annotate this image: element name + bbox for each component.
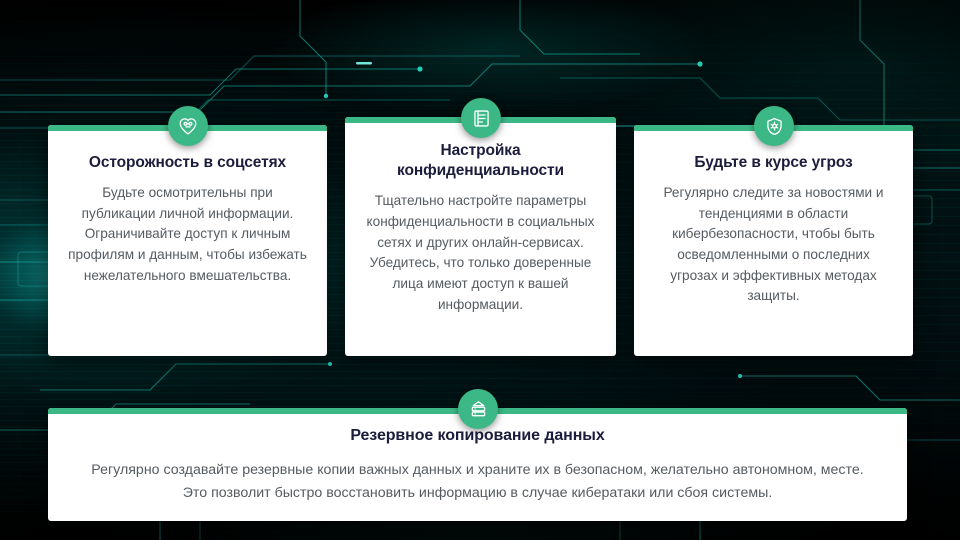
card-text: Регулярно создавайте резервные копии важ… xyxy=(84,459,871,505)
card-text: Тщательно настройте параметры конфиденци… xyxy=(363,191,598,315)
card-body: Будьте в курсе угроз Регулярно следите з… xyxy=(634,125,913,323)
slide-canvas: Осторожность в соцсетях Будьте осмотрите… xyxy=(0,0,960,540)
card-social-caution[interactable]: Осторожность в соцсетях Будьте осмотрите… xyxy=(48,125,327,356)
card-title: Резервное копирование данных xyxy=(84,426,871,447)
card-title: Настройка конфиденциальности xyxy=(363,141,598,181)
shield-icon xyxy=(754,106,794,146)
social-heart-icon xyxy=(168,106,208,146)
document-list-icon xyxy=(461,98,501,138)
card-threat-awareness[interactable]: Будьте в курсе угроз Регулярно следите з… xyxy=(634,125,913,356)
card-body: Осторожность в соцсетях Будьте осмотрите… xyxy=(48,125,327,302)
card-body: Настройка конфиденциальности Тщательно н… xyxy=(345,117,616,331)
card-privacy-settings[interactable]: Настройка конфиденциальности Тщательно н… xyxy=(345,117,616,356)
card-text: Будьте осмотрительны при публикации личн… xyxy=(66,183,309,286)
card-title: Осторожность в соцсетях xyxy=(66,153,309,173)
server-backup-icon xyxy=(458,389,498,429)
card-title: Будьте в курсе угроз xyxy=(652,153,895,173)
card-text: Регулярно следите за новостями и тенденц… xyxy=(652,183,895,307)
